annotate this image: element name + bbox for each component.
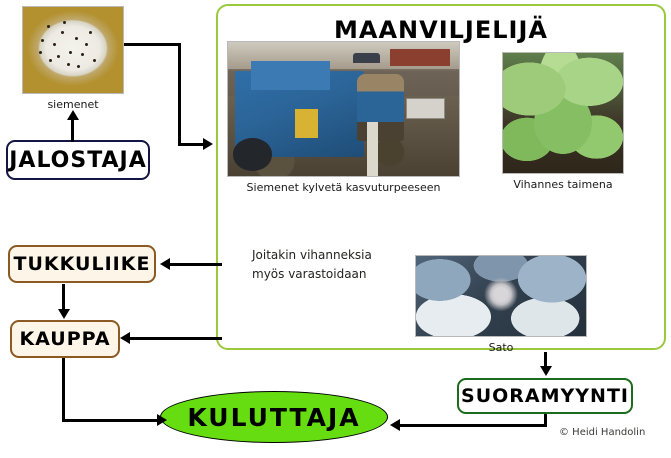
node-suoramyynti[interactable]: SUORAMYYNTI [457, 378, 633, 414]
seeds-photo [22, 6, 124, 94]
arrowhead-tukkuliike-to-kauppa [58, 309, 70, 319]
connector-panel-to-tukkuliike [170, 263, 222, 266]
credit-text: © Heidi Handolin [559, 427, 645, 438]
connector-tukkuliike-to-kauppa [62, 284, 65, 310]
panel-title: MAANVILJELIJÄ [218, 16, 664, 44]
connector-panel-to-kauppa [130, 337, 222, 340]
figure-seedling: Vihannes taimena [502, 52, 624, 191]
node-jalostaja[interactable]: JALOSTAJA [6, 140, 150, 180]
sowing-photo [227, 41, 460, 177]
diagram-canvas: MAANVILJELIJÄ siemenet [0, 0, 671, 458]
arrowhead-kauppa-to-kuluttaja [157, 414, 167, 426]
figure-seeds: siemenet [22, 6, 124, 111]
connector-jalostaja-to-seeds [71, 118, 74, 142]
harvest-caption: Sato [415, 341, 587, 354]
figure-sowing: Siemenet kylvetä kasvuturpeeseen [227, 41, 460, 194]
storage-note: Joitakin vihanneksia myös varastoidaan [252, 246, 372, 284]
connector-kauppa-to-kuluttaja [62, 419, 161, 422]
connector-suoramyynti-to-kuluttaja [400, 424, 547, 427]
connector-seeds-into-panel [178, 143, 206, 146]
storage-note-line2: myös varastoidaan [252, 265, 372, 284]
seedling-photo [502, 52, 624, 174]
arrowhead-suoramyynti-to-kuluttaja [390, 419, 400, 431]
connector-seeds-right [124, 43, 181, 46]
node-kuluttaja[interactable]: KULUTTAJA [160, 391, 388, 443]
arrowhead-panel-to-tukkuliike [160, 258, 170, 270]
connector-seeds-down [178, 43, 181, 145]
node-tukkuliike[interactable]: TUKKULIIKE [8, 245, 156, 283]
arrowhead-panel-to-kauppa [120, 332, 130, 344]
arrowhead-jalostaja-to-seeds [67, 110, 79, 120]
arrowhead-panel-to-suoramyynti [540, 366, 552, 376]
harvest-photo [415, 255, 587, 337]
seedling-caption: Vihannes taimena [502, 178, 624, 191]
arrowhead-seeds-to-panel [203, 138, 213, 150]
figure-harvest: Sato [415, 255, 587, 354]
node-kauppa[interactable]: KAUPPA [10, 320, 120, 358]
connector-kauppa-down [62, 358, 65, 422]
sowing-caption: Siemenet kylvetä kasvuturpeeseen [227, 181, 460, 194]
storage-note-line1: Joitakin vihanneksia [252, 246, 372, 265]
